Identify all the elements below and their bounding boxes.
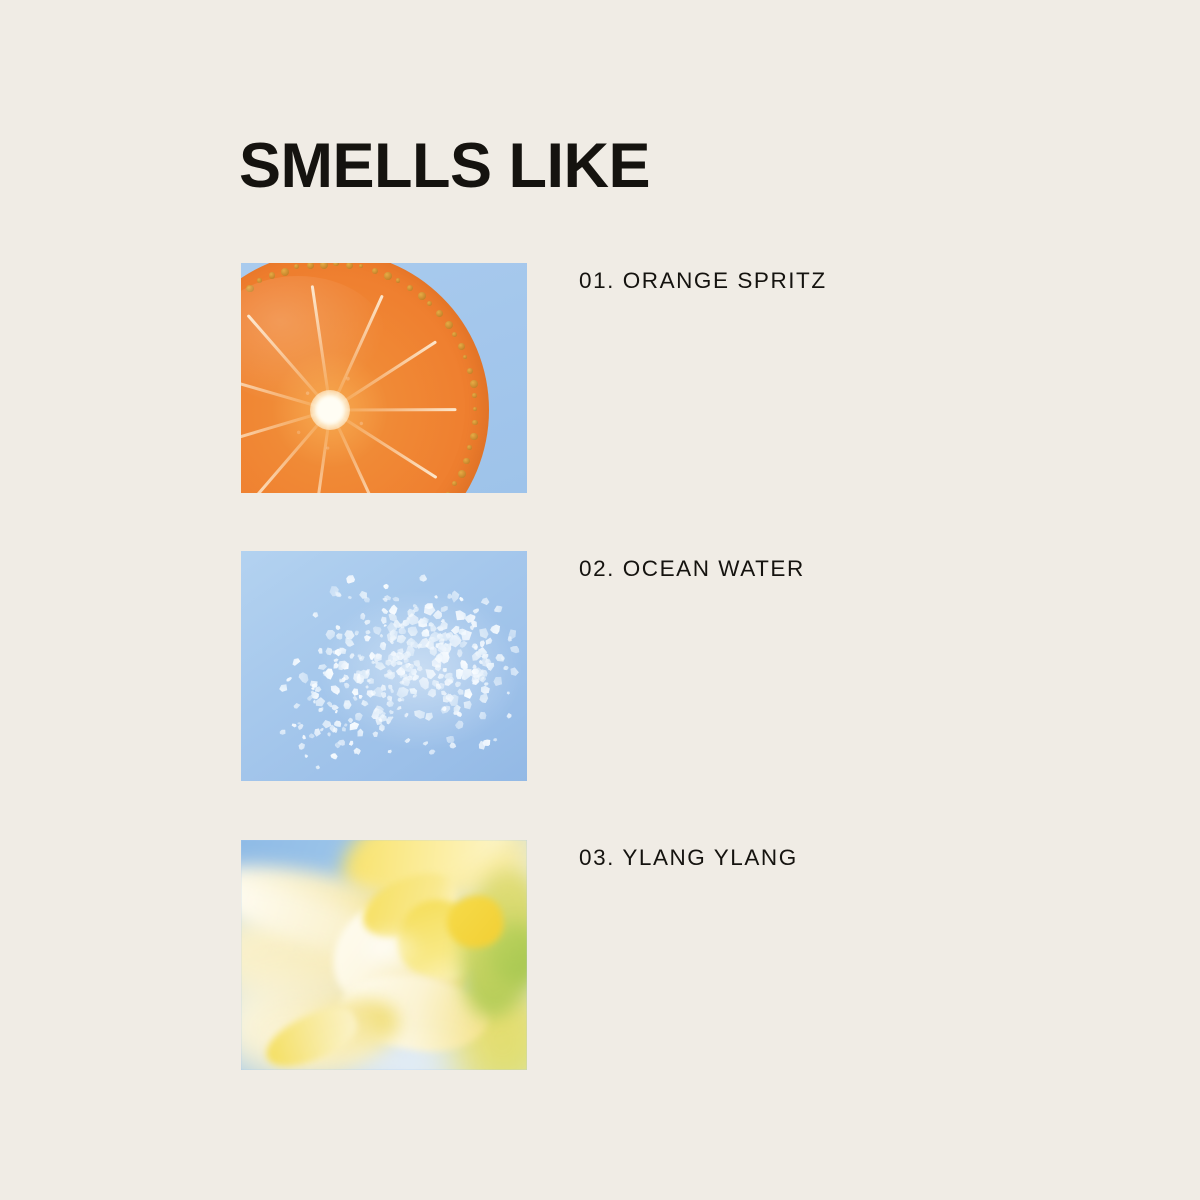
salt-crystal bbox=[402, 712, 410, 720]
salt-crystal bbox=[487, 622, 503, 637]
rind-pore bbox=[452, 332, 457, 337]
salt-crystal bbox=[502, 664, 510, 673]
rind-pore bbox=[257, 278, 262, 283]
rind-pore bbox=[452, 481, 457, 486]
ingredient-label-01: 01. ORANGE SPRITZ bbox=[579, 267, 827, 294]
salt-crystal bbox=[489, 672, 505, 688]
salt-crystal bbox=[453, 717, 468, 732]
salt-crystal bbox=[403, 737, 412, 745]
salt-crystal bbox=[483, 682, 489, 687]
salt-crystal bbox=[433, 594, 439, 599]
orange-slice-photo bbox=[241, 263, 527, 493]
rind-pore bbox=[472, 393, 477, 398]
salt-crystal bbox=[506, 664, 522, 680]
salt-crystal bbox=[427, 748, 436, 756]
salt-crystal bbox=[329, 751, 340, 761]
salt-crystal bbox=[388, 709, 395, 715]
rind-pore bbox=[407, 285, 413, 291]
salt-crystal bbox=[323, 628, 336, 642]
smells-like-panel: SMELLS LIKE 01. ORANGE SPRITZ bbox=[0, 0, 1200, 1200]
ingredient-label-03: 03. YLANG YLANG bbox=[579, 844, 798, 871]
salt-crystal bbox=[347, 594, 354, 600]
salt-crystal bbox=[378, 640, 387, 652]
salt-crystal bbox=[334, 624, 341, 631]
salt-crystal bbox=[378, 615, 390, 626]
salt-crystal bbox=[410, 705, 428, 723]
salt-crystal bbox=[392, 595, 401, 602]
salt-crystal bbox=[365, 684, 370, 689]
ylang-ylang-photo bbox=[241, 840, 527, 1070]
salt-crystal bbox=[297, 721, 301, 724]
salt-crystal bbox=[304, 753, 310, 758]
rind-pore bbox=[427, 301, 432, 306]
rind-pore bbox=[384, 272, 392, 280]
rind-pore bbox=[294, 264, 299, 269]
salt-crystal bbox=[348, 651, 356, 661]
sea-salt-photo bbox=[241, 551, 527, 781]
rind-pore bbox=[473, 407, 477, 411]
salt-crystal bbox=[505, 690, 511, 695]
rind-pore bbox=[396, 278, 401, 283]
salt-crystal bbox=[359, 698, 370, 709]
salt-crystal bbox=[326, 732, 332, 738]
salt-crystal bbox=[341, 726, 347, 733]
rind-pore bbox=[346, 263, 353, 269]
salt-crystal bbox=[396, 704, 404, 711]
salt-crystal bbox=[478, 595, 492, 608]
salt-crystal bbox=[291, 722, 298, 727]
salt-crystal bbox=[386, 749, 392, 755]
rind-pore bbox=[246, 285, 254, 293]
salt-crystal bbox=[316, 662, 327, 671]
salt-crystal bbox=[426, 687, 438, 699]
petal-highlight bbox=[353, 928, 423, 968]
rind-pore bbox=[445, 321, 453, 329]
rind-pore bbox=[418, 292, 426, 300]
ingredient-label-02: 02. OCEAN WATER bbox=[579, 555, 805, 582]
salt-crystal bbox=[394, 684, 411, 699]
salt-crystal bbox=[301, 734, 307, 740]
rind-pore bbox=[463, 355, 467, 359]
rind-pore bbox=[458, 343, 465, 350]
salt-crystal bbox=[371, 729, 380, 739]
ingredient-list: 01. ORANGE SPRITZ 02. OCEAN WATER bbox=[0, 0, 1200, 1200]
salt-crystal bbox=[327, 682, 343, 697]
salt-crystal bbox=[318, 646, 324, 655]
rind-pore bbox=[467, 368, 473, 374]
salt-crystal bbox=[421, 740, 429, 747]
rind-pore bbox=[472, 420, 478, 426]
rind-pore bbox=[467, 445, 472, 450]
salt-crystal bbox=[461, 699, 474, 712]
salt-crystal bbox=[347, 739, 355, 748]
salt-crystal bbox=[492, 737, 498, 743]
salt-crystal bbox=[454, 679, 462, 688]
salt-crystal bbox=[342, 681, 352, 691]
salt-crystal bbox=[358, 694, 364, 700]
salt-crystal bbox=[290, 656, 303, 668]
salt-crystal bbox=[277, 681, 290, 694]
salt-crystal bbox=[278, 727, 288, 736]
salt-crystal bbox=[447, 594, 453, 601]
salt-crystal bbox=[471, 606, 481, 616]
rind-pore bbox=[470, 380, 478, 388]
salt-crystal bbox=[383, 583, 389, 590]
salt-crystal bbox=[291, 701, 302, 710]
salt-crystal bbox=[418, 574, 428, 583]
rind-pore bbox=[458, 470, 466, 478]
salt-crystal bbox=[507, 643, 522, 657]
rind-pore bbox=[281, 268, 289, 276]
salt-crystal bbox=[493, 651, 507, 665]
salt-crystal bbox=[441, 667, 448, 674]
salt-crystal bbox=[492, 602, 505, 615]
rind-pore bbox=[333, 263, 338, 266]
salt-crystal bbox=[311, 610, 321, 620]
salt-crystal bbox=[444, 733, 457, 744]
salt-crystal bbox=[353, 711, 366, 724]
sky-background bbox=[241, 840, 527, 1070]
salt-crystal bbox=[477, 709, 489, 722]
rind-pore bbox=[463, 458, 469, 464]
rind-pore bbox=[269, 272, 275, 278]
salt-crystal bbox=[335, 631, 344, 641]
salt-crystal bbox=[478, 639, 485, 647]
rind-pore bbox=[372, 268, 378, 274]
salt-crystal bbox=[364, 627, 372, 635]
rind-pore bbox=[320, 263, 328, 269]
salt-crystal bbox=[358, 611, 367, 620]
salt-crystal bbox=[436, 672, 446, 681]
rind-pore bbox=[359, 264, 363, 268]
salt-crystals bbox=[241, 551, 527, 781]
salt-crystal bbox=[380, 606, 390, 616]
salt-crystal bbox=[456, 648, 463, 659]
salt-crystal bbox=[315, 765, 320, 770]
orange-core bbox=[310, 390, 350, 430]
salt-crystal bbox=[323, 646, 334, 657]
salt-crystal bbox=[296, 741, 308, 753]
salt-crystal bbox=[343, 573, 357, 587]
rind-pore bbox=[436, 310, 443, 317]
salt-crystal bbox=[307, 733, 315, 740]
rind-pore bbox=[470, 433, 478, 441]
rind-pore bbox=[307, 263, 314, 269]
salt-crystal bbox=[505, 712, 512, 720]
salt-crystal bbox=[284, 675, 293, 684]
salt-crystal bbox=[296, 670, 313, 687]
rind-pore bbox=[445, 492, 452, 493]
